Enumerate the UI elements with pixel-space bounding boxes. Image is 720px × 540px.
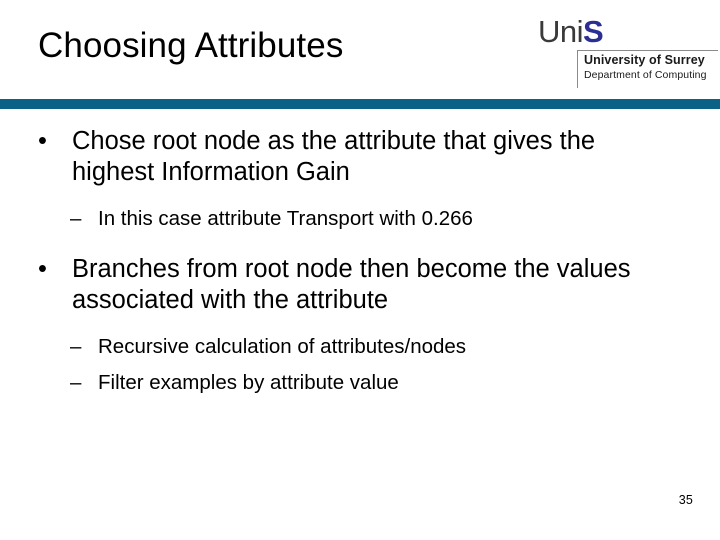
bullet-marker-dot-icon: • (38, 126, 58, 157)
spacer (0, 360, 720, 370)
bullet-item-level2: – Filter examples by attribute value (0, 370, 720, 396)
bullet-marker-dash-icon: – (70, 334, 92, 360)
page-title: Choosing Attributes (38, 26, 343, 66)
bullet-marker-dash-icon: – (70, 206, 92, 232)
bullet-text: Chose root node as the attribute that gi… (72, 127, 595, 186)
spacer (0, 188, 720, 206)
slide-body: • Chose root node as the attribute that … (0, 126, 720, 396)
spacer (0, 316, 720, 334)
page-number: 35 (679, 493, 693, 507)
bullet-text: Recursive calculation of attributes/node… (98, 335, 466, 358)
bullet-item-level2: – In this case attribute Transport with … (0, 206, 720, 232)
logo-vertical-rule (577, 50, 578, 88)
bullet-text: In this case attribute Transport with 0.… (98, 207, 473, 230)
bullet-marker-dash-icon: – (70, 370, 92, 396)
presentation-slide: Choosing Attributes UniS University of S… (0, 0, 720, 540)
logo-department-name: Department of Computing (584, 69, 707, 81)
spacer (0, 232, 720, 254)
logo-horizontal-rule (577, 50, 718, 51)
bullet-text: Filter examples by attribute value (98, 371, 399, 394)
bullet-item-level1: • Branches from root node then become th… (0, 254, 720, 316)
accent-divider-bar (0, 99, 720, 109)
unis-wordmark-prefix: Uni (538, 14, 583, 49)
bullet-marker-dot-icon: • (38, 254, 58, 285)
unis-wordmark-suffix: S (583, 14, 603, 49)
bullet-text: Branches from root node then become the … (72, 255, 631, 314)
bullet-item-level2: – Recursive calculation of attributes/no… (0, 334, 720, 360)
logo-organisation-name: University of Surrey (584, 53, 705, 67)
university-logo: UniS University of Surrey Department of … (538, 16, 718, 88)
bullet-item-level1: • Chose root node as the attribute that … (0, 126, 720, 188)
unis-wordmark: UniS (538, 16, 603, 47)
